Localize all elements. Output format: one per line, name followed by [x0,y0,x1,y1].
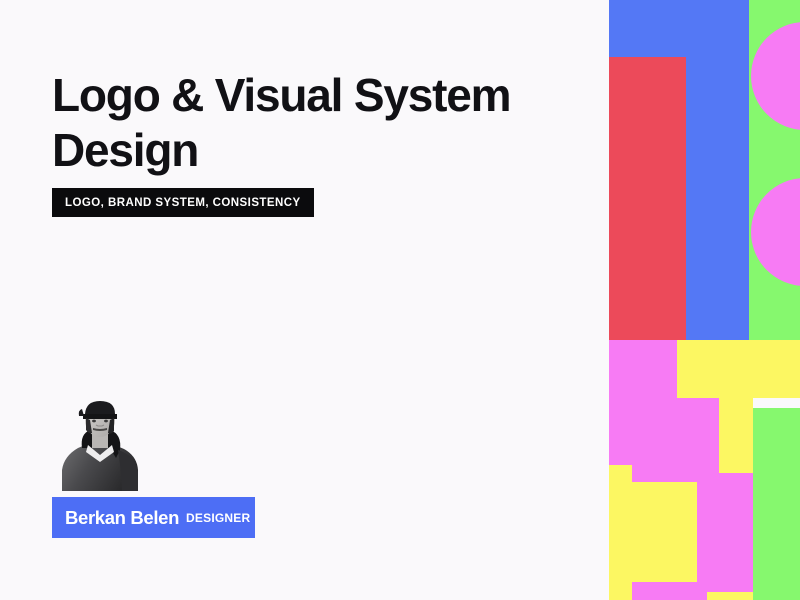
yellow-block-c [632,482,697,582]
magenta-block-mid [719,473,753,600]
magenta-block-b [609,398,719,473]
magenta-block-c [632,465,697,482]
decorative-graphic-panel [609,0,800,600]
yellow-block-b [719,398,753,473]
magenta-block-d [697,465,719,600]
presenter-role: DESIGNER [186,511,250,525]
magenta-block-e [632,582,697,600]
presenter-block: Berkan Belen DESIGNER [52,398,257,538]
slide-left-content: Logo & Visual System Design LOGO, BRAND … [0,0,609,600]
yellow-block-d [707,592,753,600]
presenter-avatar-photo [52,398,147,491]
red-rectangle [609,57,686,340]
presenter-name: Berkan Belen [65,507,179,529]
green-block-right [753,408,800,600]
page-title: Logo & Visual System Design [52,68,572,178]
presentation-slide: Logo & Visual System Design LOGO, BRAND … [0,0,800,600]
topic-tag-badge: LOGO, BRAND SYSTEM, CONSISTENCY [52,188,314,217]
topic-tag-label: LOGO, BRAND SYSTEM, CONSISTENCY [65,197,301,209]
yellow-block-a [677,340,800,398]
yellow-block-left [609,465,632,600]
presenter-name-badge: Berkan Belen DESIGNER [52,497,255,538]
